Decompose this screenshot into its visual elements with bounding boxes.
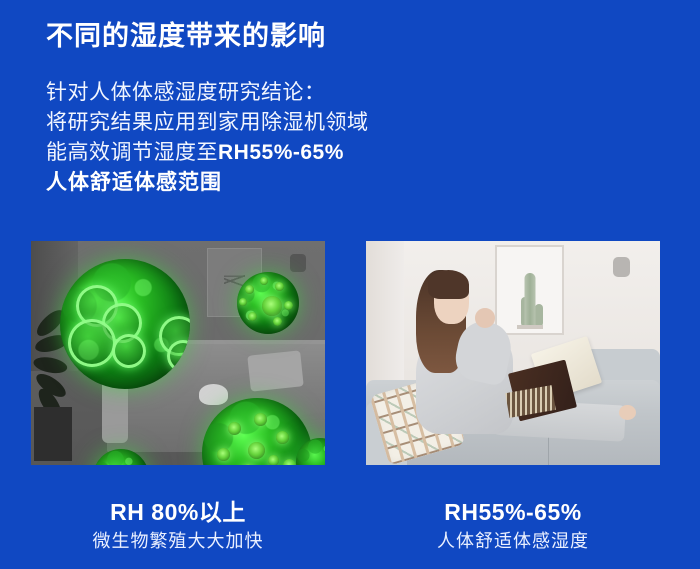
microbe-bottom-left [93,449,149,465]
cactus-stem [524,273,535,327]
page-title: 不同的湿度带来的影响 [46,20,326,52]
caption-subtitle: 微生物繁殖大大加快 [31,528,325,554]
humidity-impact-poster: 不同的湿度带来的影响 针对人体体感湿度研究结论： 将研究结果应用到家用除湿机领域… [0,0,700,569]
body-line-2: 将研究结果应用到家用除湿机领域 [46,108,369,138]
caption-subtitle: 人体舒适体感湿度 [366,528,660,554]
dark-living-room-scene [31,241,325,465]
cactus-soil [517,325,543,329]
microbe-corona-small [237,272,299,334]
caption-title: RH55%-65% [366,498,660,526]
body-copy-block: 针对人体体感湿度研究结论： 将研究结果应用到家用除湿机领域 能高效调节湿度至RH… [46,78,369,198]
cactus-art-frame [495,245,564,334]
caption-title: RH 80%以上 [31,498,325,526]
body-line-3-prefix: 能高效调节湿度至 [46,141,218,164]
sofa-cushion [247,350,303,391]
microbe-cluster-large [60,259,190,389]
caption-comfort-humidity: RH55%-65% 人体舒适体感湿度 [366,498,660,554]
wall-speaker-icon [290,254,306,272]
microbe-bottom-right [296,438,325,465]
photo-comfort-humidity [366,241,660,465]
cactus-arm-right [535,304,543,328]
plant-pot [34,407,72,461]
body-line-1: 针对人体体感湿度研究结论： [46,78,369,108]
photo-high-humidity [31,241,325,465]
humidity-range-highlight: RH55%-65% [218,141,344,164]
woman-hair-fringe [428,270,469,299]
body-line-4: 人体舒适体感范围 [46,168,369,198]
bright-living-room-scene [366,241,660,465]
wall-speaker-icon [613,257,630,277]
caption-high-humidity: RH 80%以上 微生物繁殖大大加快 [31,498,325,554]
body-line-3: 能高效调节湿度至RH55%-65% [46,138,369,168]
